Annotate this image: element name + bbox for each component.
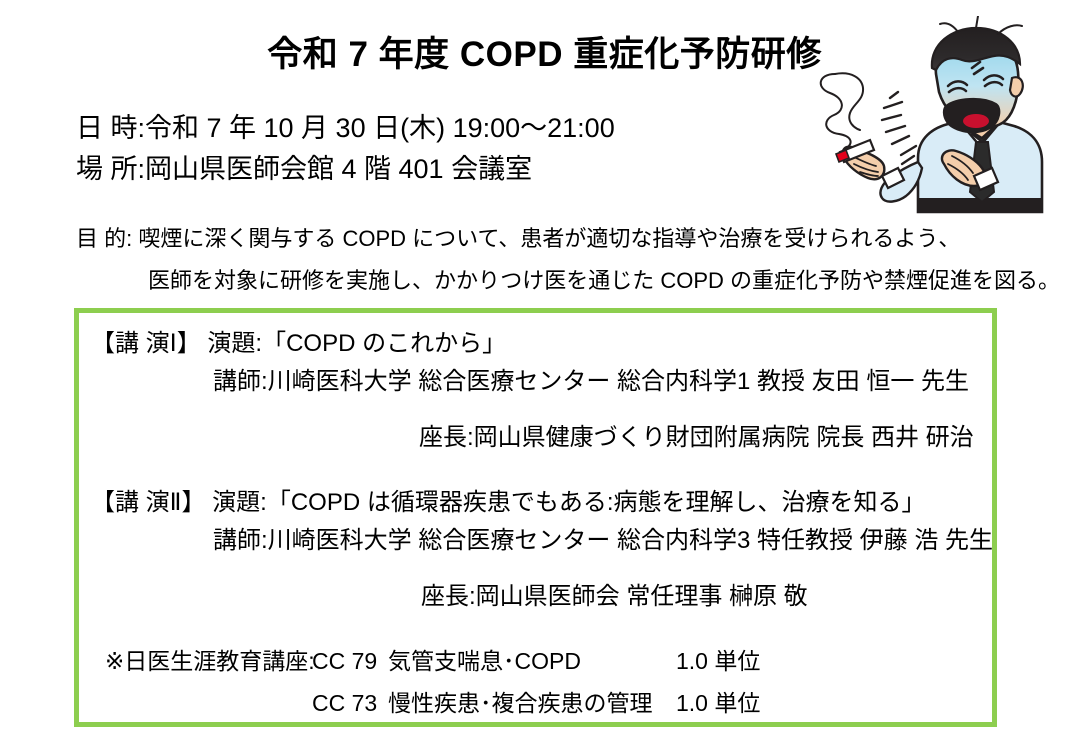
poster-page: 令和 7 年度 COPD 重症化予防研修 日 時:令和 7 年 10 月 30 … — [0, 0, 1089, 754]
cme-credit-unit: 1.0 単位 — [676, 682, 760, 724]
cme-credit-name: 慢性疾患･複合疾患の管理 — [388, 682, 676, 724]
cme-credit-code: CC 73 — [312, 682, 388, 724]
purpose-block: 目 的: 喫煙に深く関与する COPD について、患者が適切な指導や治療を受けら… — [76, 218, 1060, 302]
head-icon — [932, 16, 1023, 132]
cme-credit-row: ※日医生涯教育講座:CC 79気管支喘息･COPD1.0 単位 — [105, 640, 760, 682]
lecture-2-chair: 座長:岡山県医師会 常任理事 榊原 敬 — [421, 578, 808, 616]
lecture-1: 【講 演Ⅰ】 演題:「COPD のこれから」 講師:川崎医科大学 総合医療センタ… — [91, 325, 969, 401]
cme-credits-lead: ※日医生涯教育講座: — [105, 640, 312, 682]
event-venue: 場 所:岡山県医師会館 4 階 401 会議室 — [76, 149, 615, 190]
cme-credits: ※日医生涯教育講座:CC 79気管支喘息･COPD1.0 単位 CC 73慢性疾… — [105, 640, 760, 724]
event-datetime: 日 時:令和 7 年 10 月 30 日(木) 19:00～21:00 — [76, 108, 615, 149]
lecture-2-title: 【講 演Ⅱ】 演題:「COPD は循環器疾患でもある:病態を理解し、治療を知る」 — [91, 484, 993, 522]
tongue-icon — [963, 114, 989, 128]
purpose-line-1: 目 的: 喫煙に深く関与する COPD について、患者が適切な指導や治療を受けら… — [76, 218, 1060, 260]
lecture-1-speaker: 講師:川崎医科大学 総合医療センター 総合内科学1 教授 友田 恒一 先生 — [91, 363, 969, 401]
lecture-2: 【講 演Ⅱ】 演題:「COPD は循環器疾患でもある:病態を理解し、治療を知る」… — [91, 484, 993, 560]
smoke-icon — [821, 73, 863, 147]
event-info-block: 日 時:令和 7 年 10 月 30 日(木) 19:00～21:00 場 所:… — [76, 108, 615, 190]
purpose-line-2: 医師を対象に研修を実施し、かかりつけ医を通じた COPD の重症化予防や禁煙促進… — [76, 260, 1060, 302]
cme-credit-name: 気管支喘息･COPD — [388, 640, 676, 682]
cme-credit-unit: 1.0 単位 — [676, 640, 760, 682]
cme-credit-code: CC 79 — [312, 640, 388, 682]
lecture-2-speaker: 講師:川崎医科大学 総合医療センター 総合内科学3 特任教授 伊藤 浩 先生 — [91, 522, 993, 560]
lecture-1-title: 【講 演Ⅰ】 演題:「COPD のこれから」 — [91, 325, 969, 363]
program-box: 【講 演Ⅰ】 演題:「COPD のこれから」 講師:川崎医科大学 総合医療センタ… — [74, 308, 997, 727]
right-arm-icon — [880, 162, 922, 202]
lecture-1-chair: 座長:岡山県健康づくり財団附属病院 院長 西井 研治 — [419, 419, 974, 457]
cough-lines-icon — [882, 92, 916, 164]
coughing-smoker-illustration — [806, 16, 1082, 216]
cme-credit-row: CC 73慢性疾患･複合疾患の管理1.0 単位 — [105, 682, 760, 724]
